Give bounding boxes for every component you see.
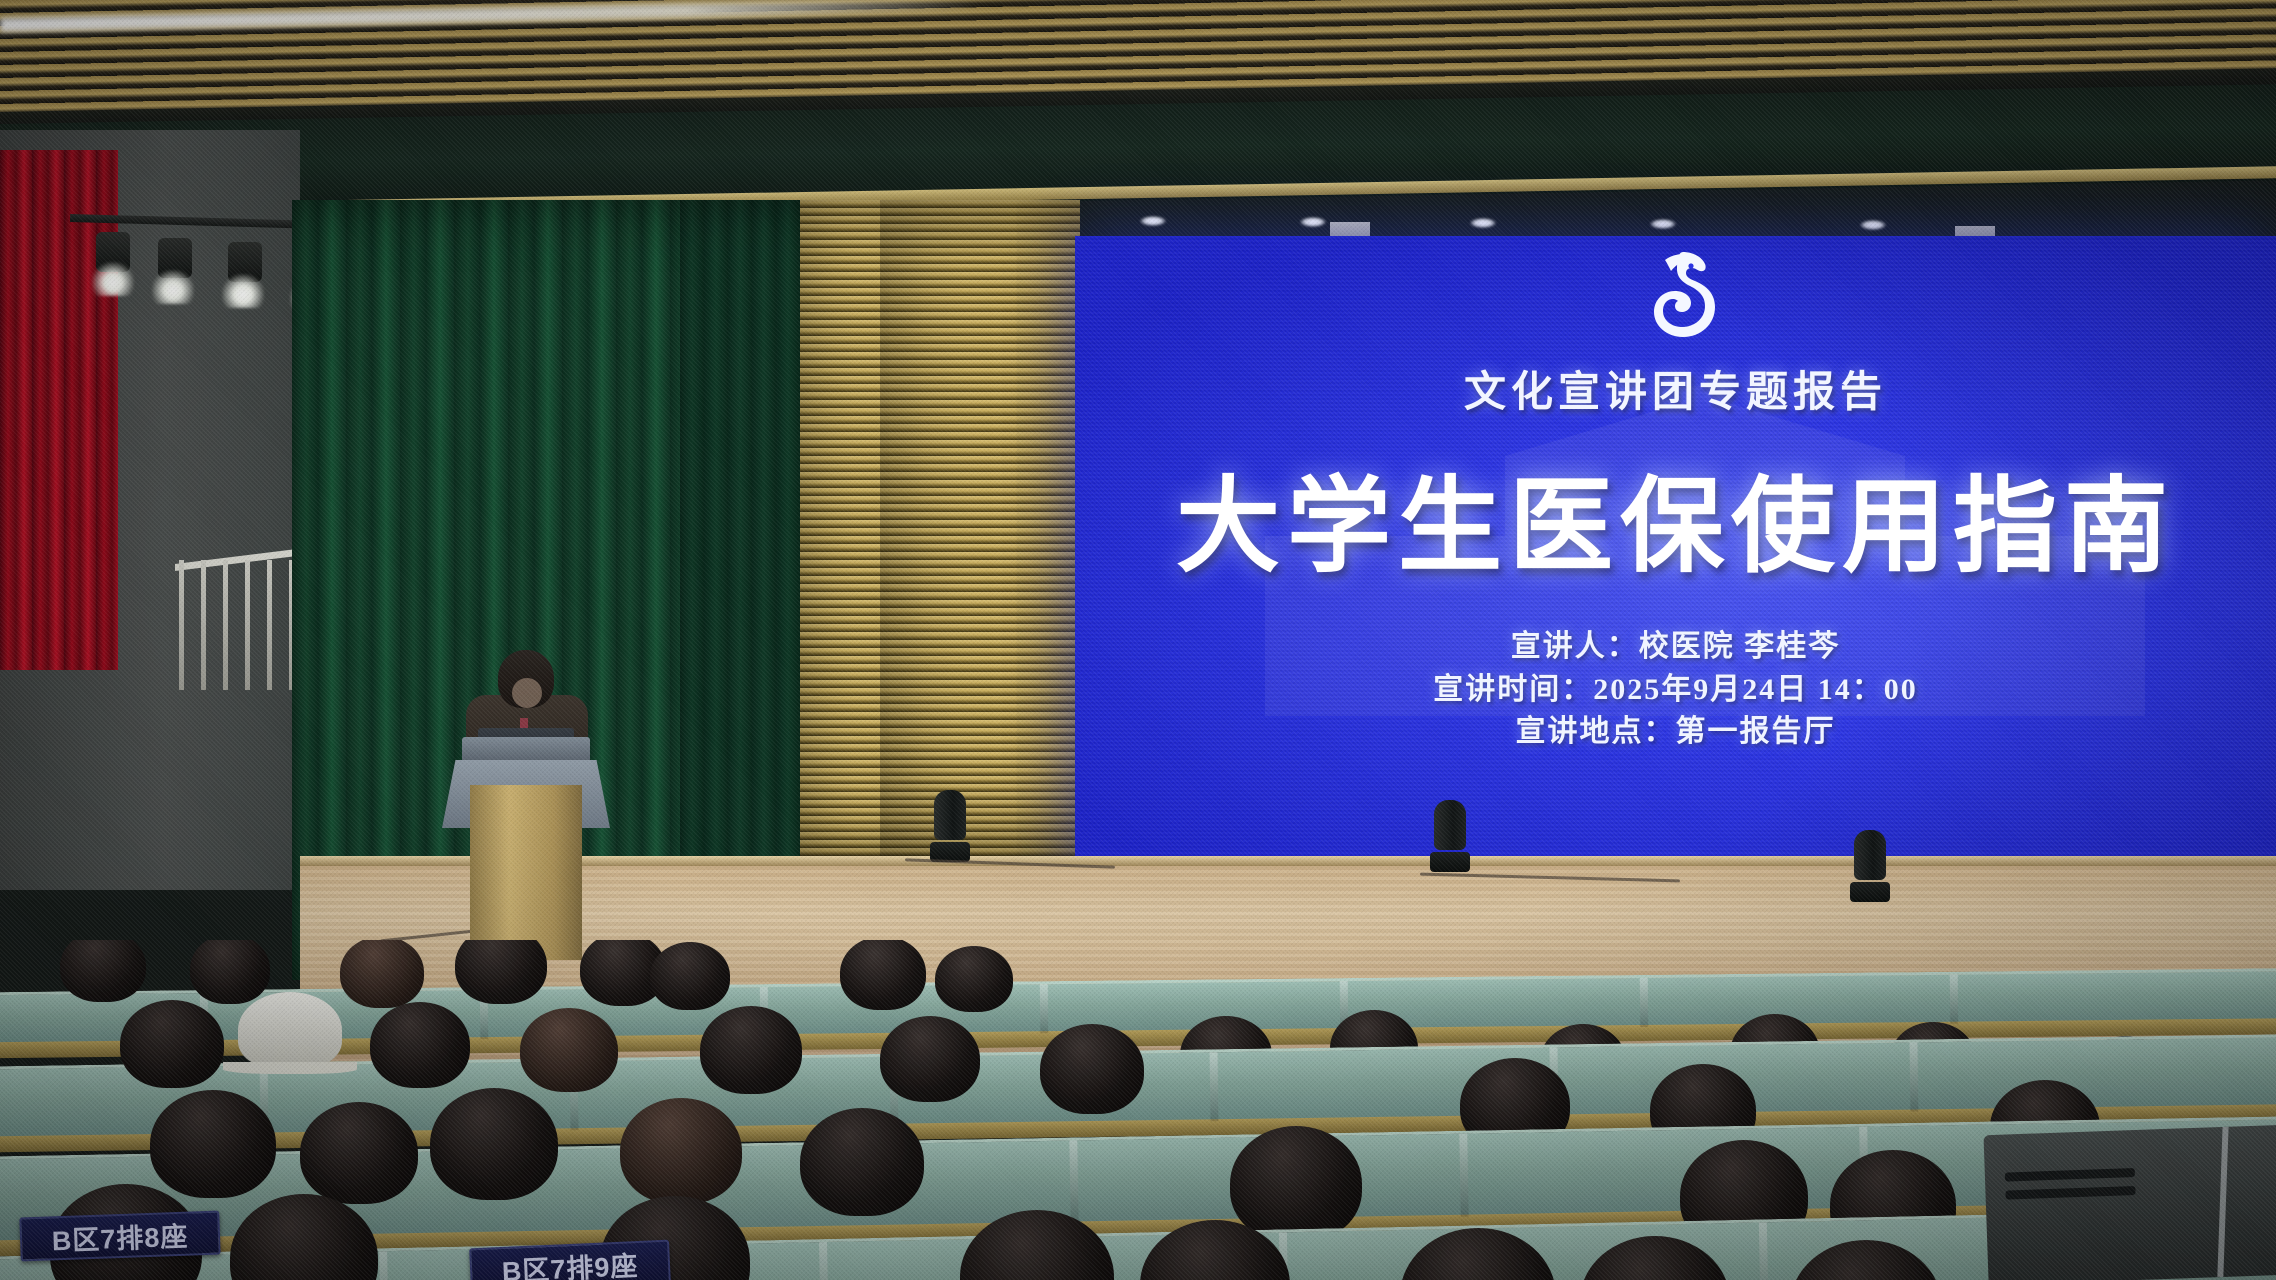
audience-head (430, 1088, 558, 1200)
audience-head (700, 1006, 802, 1094)
seat-number-plate: B区7排8座 (19, 1211, 220, 1262)
audience-area (0, 940, 2276, 1280)
audience-head (935, 946, 1013, 1012)
stage-stair-railing (175, 560, 305, 690)
audience-cap (238, 992, 342, 1068)
audience-head (60, 940, 146, 1002)
screen-meta-time: 宣讲时间：2025年9月24日 14：00 (1433, 669, 1918, 712)
par-light-icon (92, 262, 134, 296)
audience-head (120, 1000, 224, 1088)
audience-head (300, 1102, 418, 1204)
screen-subtitle: 文化宣讲团专题报告 (1464, 358, 1887, 419)
equipment-case (1983, 1125, 2276, 1280)
auditorium-photo: 文化宣讲团专题报告 大学生医保使用指南 宣讲人：校医院 李桂芩 宣讲时间：202… (0, 0, 2276, 1280)
audience-head (340, 940, 424, 1008)
podium-base (470, 785, 582, 960)
audience-head (620, 1098, 742, 1204)
audience-head (840, 940, 926, 1010)
downlight-icon (1860, 220, 1886, 230)
audience-head (520, 1008, 618, 1092)
audience-head (800, 1108, 924, 1216)
downlight-icon (1650, 219, 1676, 229)
audience-head (1040, 1024, 1144, 1114)
speaker-person-face (512, 678, 542, 708)
audience-head (370, 1002, 470, 1088)
downlight-icon (1470, 218, 1496, 228)
downlight-icon (1300, 217, 1326, 227)
audience-head (455, 940, 547, 1004)
wood-slat-wall-shadow (880, 200, 1080, 860)
moving-head-light (930, 790, 970, 862)
audience-head (190, 940, 270, 1004)
red-side-curtain (0, 150, 118, 670)
led-stage-screen: 文化宣讲团专题报告 大学生医保使用指南 宣讲人：校医院 李桂芩 宣讲时间：202… (1075, 236, 2276, 872)
audience-head (650, 942, 730, 1010)
downlight-icon (1140, 216, 1166, 226)
audience-head (1230, 1126, 1362, 1242)
dragon-logo-icon (1639, 246, 1723, 348)
screen-meta-place: 宣讲地点：第一报告厅 (1433, 711, 1918, 754)
screen-meta-block: 宣讲人：校医院 李桂芩 宣讲时间：2025年9月24日 14：00 宣讲地点：第… (1433, 626, 1918, 754)
par-light-icon (152, 270, 194, 304)
screen-meta-speaker: 宣讲人：校医院 李桂芩 (1433, 626, 1918, 669)
par-light-icon (222, 274, 264, 308)
audience-head (880, 1016, 980, 1102)
audience-head (150, 1090, 276, 1198)
screen-title: 大学生医保使用指南 (1176, 441, 2175, 592)
